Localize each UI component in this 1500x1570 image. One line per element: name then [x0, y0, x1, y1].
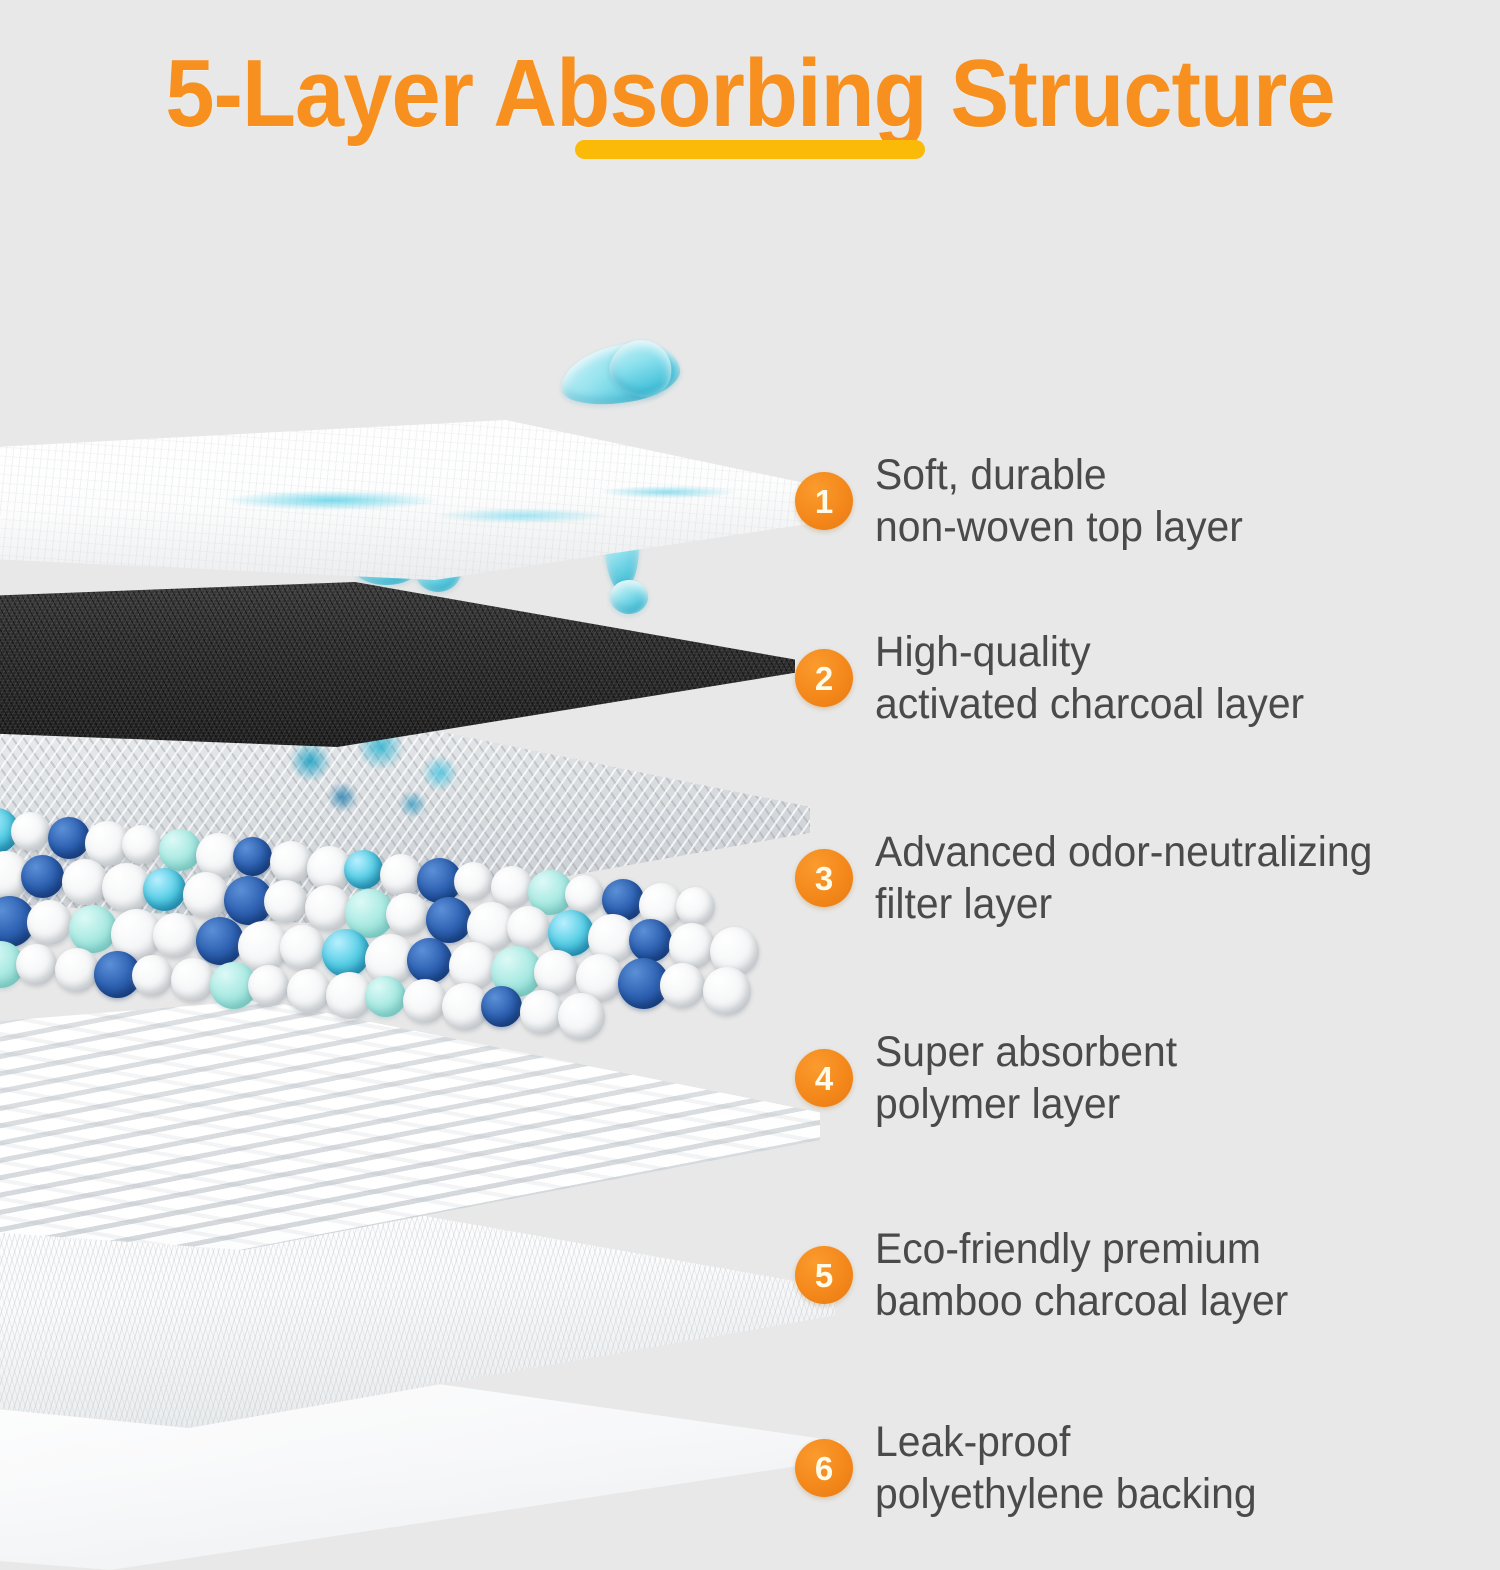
callout-item-5: 5 Eco-friendly premium bamboo charcoal l…: [795, 1223, 1310, 1328]
liquid-spill-stain: [175, 464, 735, 534]
polymer-bead: [629, 919, 672, 962]
polymer-bead: [565, 875, 604, 914]
layer-activated-charcoal: [0, 582, 795, 747]
layered-pad-illustration: [0, 300, 880, 1510]
polymer-bead: [365, 976, 406, 1017]
polymer-bead: [305, 885, 351, 931]
callout-label-3: Advanced odor-neutralizing filter layer: [875, 826, 1372, 931]
polymer-bead: [481, 986, 522, 1027]
polymer-bead: [27, 900, 72, 945]
layer-wave-overlay: [0, 1000, 820, 1250]
polymer-bead: [380, 854, 422, 896]
polymer-bead: [132, 955, 173, 996]
polymer-bead: [403, 979, 447, 1023]
polymer-bead: [703, 967, 751, 1015]
layer-super-absorbent-polymer: [0, 1000, 820, 1250]
polymer-bead: [449, 942, 497, 990]
polymer-bead: [270, 841, 312, 883]
polymer-bead: [159, 829, 201, 871]
polymer-bead: [122, 825, 161, 864]
polymer-bead: [407, 938, 452, 983]
callout-label-2: High-quality activated charcoal layer: [875, 626, 1304, 731]
polymer-bead: [426, 897, 472, 943]
polymer-bead: [534, 950, 579, 995]
callout-label-6: Leak-proof polyethylene backing: [875, 1416, 1257, 1521]
callout-item-3: 3 Advanced odor-neutralizing filter laye…: [795, 826, 1399, 931]
polymer-bead: [520, 990, 564, 1034]
callout-label-4: Super absorbent polymer layer: [875, 1026, 1177, 1131]
liquid-droplet-icon: [610, 580, 648, 614]
callout-badge-4: 4: [795, 1049, 853, 1107]
polymer-bead: [660, 963, 705, 1008]
polymer-bead: [196, 917, 244, 965]
callout-badge-3: 3: [795, 849, 853, 907]
polymer-bead: [69, 905, 117, 953]
polymer-bead: [386, 893, 429, 936]
polymer-bead: [11, 812, 50, 851]
polymer-bead: [21, 855, 64, 898]
polymer-bead: [507, 906, 550, 949]
polymer-bead: [264, 880, 307, 923]
callout-badge-1: 1: [795, 472, 853, 530]
polymer-bead: [48, 817, 90, 859]
layer-texture: [0, 582, 795, 747]
callout-label-5: Eco-friendly premium bamboo charcoal lay…: [875, 1223, 1288, 1328]
polymer-bead: [558, 993, 605, 1040]
callout-item-4: 4 Super absorbent polymer layer: [795, 1026, 1193, 1131]
callout-list: 1 Soft, durable non-woven top layer 2 Hi…: [795, 0, 1500, 1500]
callout-item-1: 1 Soft, durable non-woven top layer: [795, 449, 1262, 554]
polymer-bead: [16, 944, 57, 985]
callout-badge-2: 2: [795, 649, 853, 707]
polymer-bead: [287, 969, 331, 1013]
polymer-bead: [171, 958, 215, 1002]
layer-non-woven-top: [0, 420, 840, 580]
polymer-bead: [454, 862, 493, 901]
polymer-bead: [153, 913, 198, 958]
infographic-canvas: 5-Layer Absorbing Structure: [0, 0, 1500, 1500]
polymer-bead: [676, 887, 715, 926]
polymer-bead: [62, 859, 108, 905]
callout-badge-5: 5: [795, 1246, 853, 1304]
polymer-bead: [55, 948, 99, 992]
callout-badge-6: 6: [795, 1439, 853, 1497]
callout-item-6: 6 Leak-proof polyethylene backing: [795, 1416, 1277, 1521]
polymer-bead: [233, 837, 272, 876]
polymer-bead: [669, 923, 715, 969]
polymer-bead: [248, 965, 289, 1006]
polymer-bead: [183, 872, 229, 918]
polymer-bead: [322, 929, 370, 977]
polymer-bead: [143, 868, 186, 911]
polymer-bead: [280, 925, 325, 970]
polymer-bead: [344, 850, 383, 889]
callout-item-2: 2 High-quality activated charcoal layer: [795, 626, 1327, 731]
callout-label-1: Soft, durable non-woven top layer: [875, 449, 1243, 554]
polymer-bead-cluster: [0, 770, 840, 1000]
